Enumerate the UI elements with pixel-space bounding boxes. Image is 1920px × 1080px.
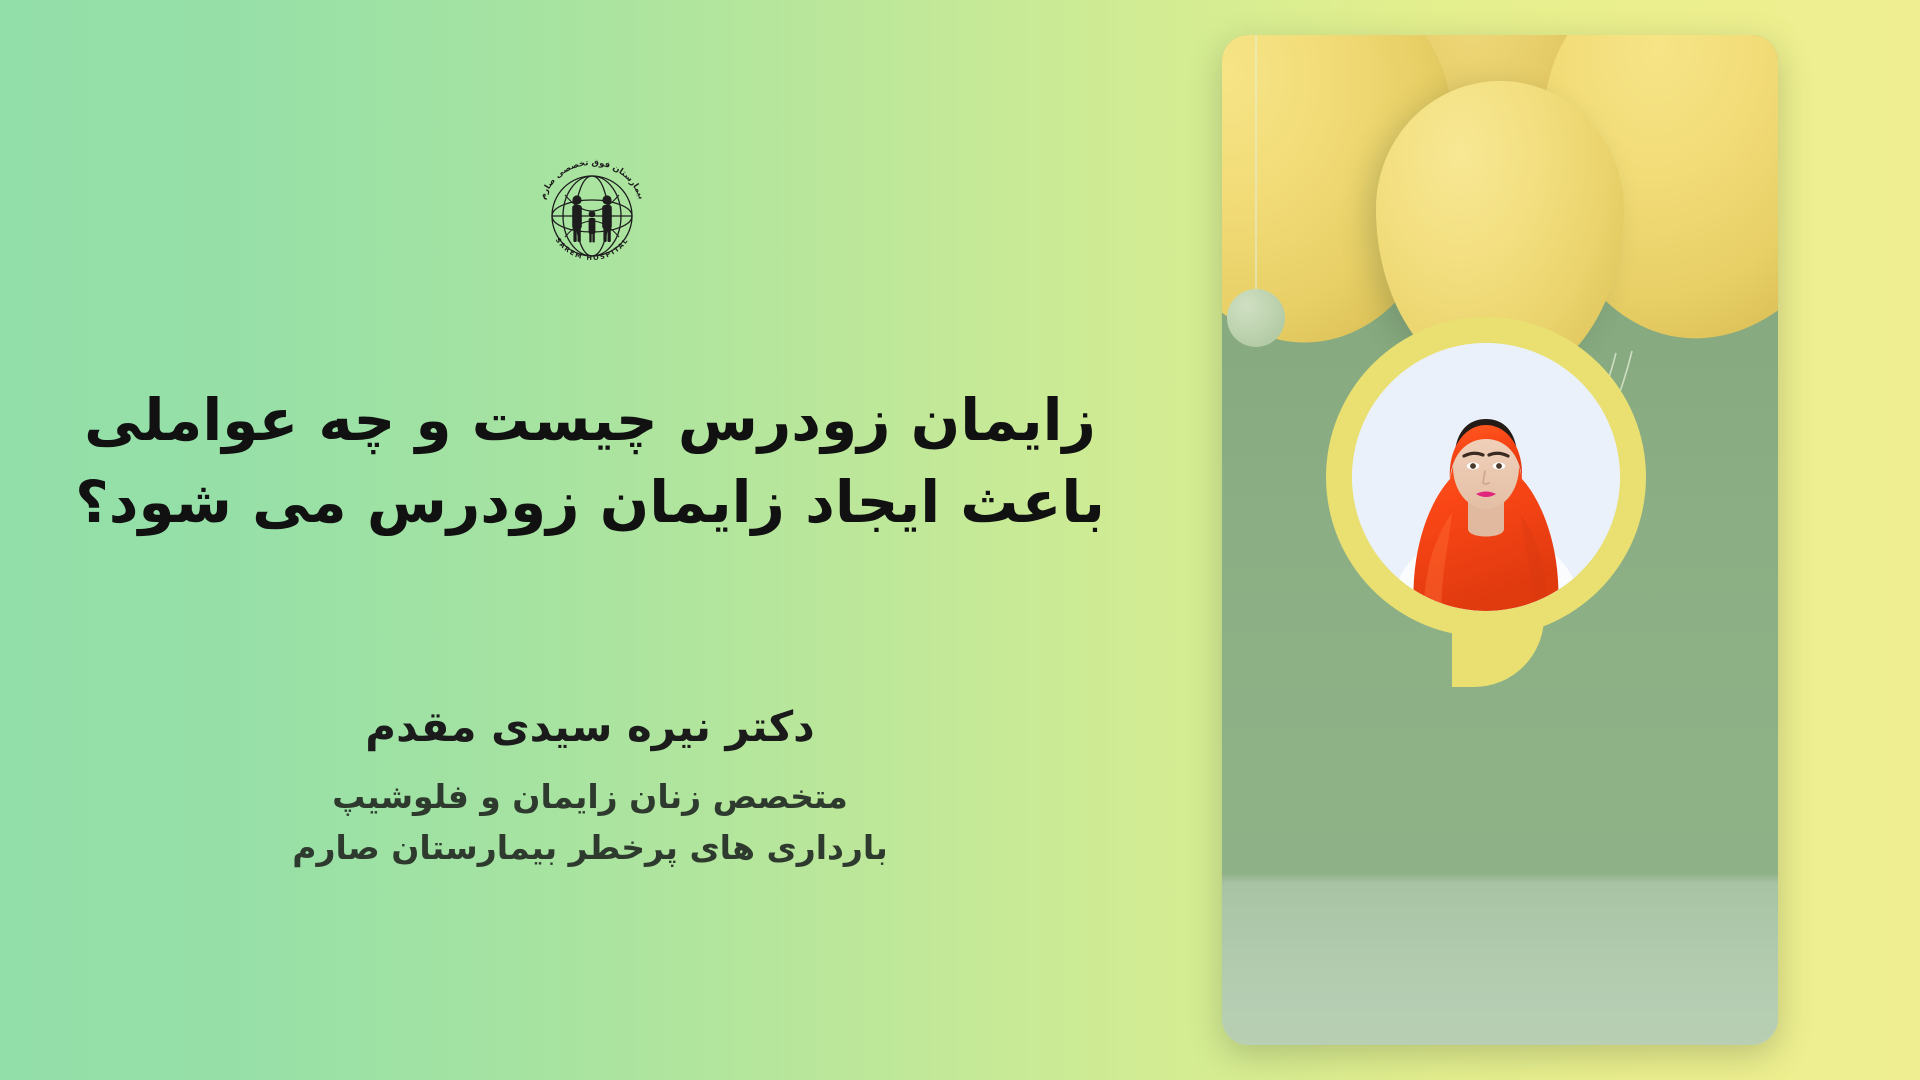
left-content-area: بیمارستان فوق تخصصی صارم SAREM HOSPITAL … bbox=[60, 0, 1180, 1080]
hanging-sphere-string bbox=[1255, 35, 1257, 297]
headline-line-1: زایمان زودرس چیست و چه عواملی bbox=[60, 379, 1120, 461]
sarem-hospital-logo: بیمارستان فوق تخصصی صارم SAREM HOSPITAL bbox=[525, 143, 659, 277]
slide-headline: زایمان زودرس چیست و چه عواملی باعث ایجاد… bbox=[60, 379, 1120, 544]
panel-clip bbox=[1222, 35, 1778, 1045]
speaker-name: دکتر نیره سیدی مقدم bbox=[60, 700, 1120, 755]
speaker-credentials: متخصص زنان زایمان و فلوشیپ بارداری های پ… bbox=[60, 771, 1120, 873]
doctor-portrait-photo bbox=[1352, 343, 1620, 611]
logo-arc-text-top: بیمارستان فوق تخصصی صارم bbox=[537, 157, 647, 201]
balloons-portrait-panel bbox=[1222, 35, 1778, 1045]
headline-line-2: باعث ایجاد زایمان زودرس می شود؟ bbox=[60, 461, 1120, 543]
hanging-sphere bbox=[1227, 289, 1285, 347]
portrait-speech-bubble bbox=[1326, 317, 1646, 637]
speaker-credential-line-2: بارداری های پرخطر بیمارستان صارم bbox=[60, 822, 1120, 873]
speaker-block: دکتر نیره سیدی مقدم متخصص زنان زایمان و … bbox=[60, 700, 1120, 873]
presentation-slide: بیمارستان فوق تخصصی صارم SAREM HOSPITAL … bbox=[0, 0, 1920, 1080]
speaker-credential-line-1: متخصص زنان زایمان و فلوشیپ bbox=[60, 771, 1120, 822]
svg-text:بیمارستان فوق تخصصی صارم: بیمارستان فوق تخصصی صارم bbox=[537, 157, 647, 201]
logo-arc-text-bottom: SAREM HOSPITAL bbox=[554, 236, 631, 262]
svg-text:SAREM HOSPITAL: SAREM HOSPITAL bbox=[554, 236, 631, 262]
